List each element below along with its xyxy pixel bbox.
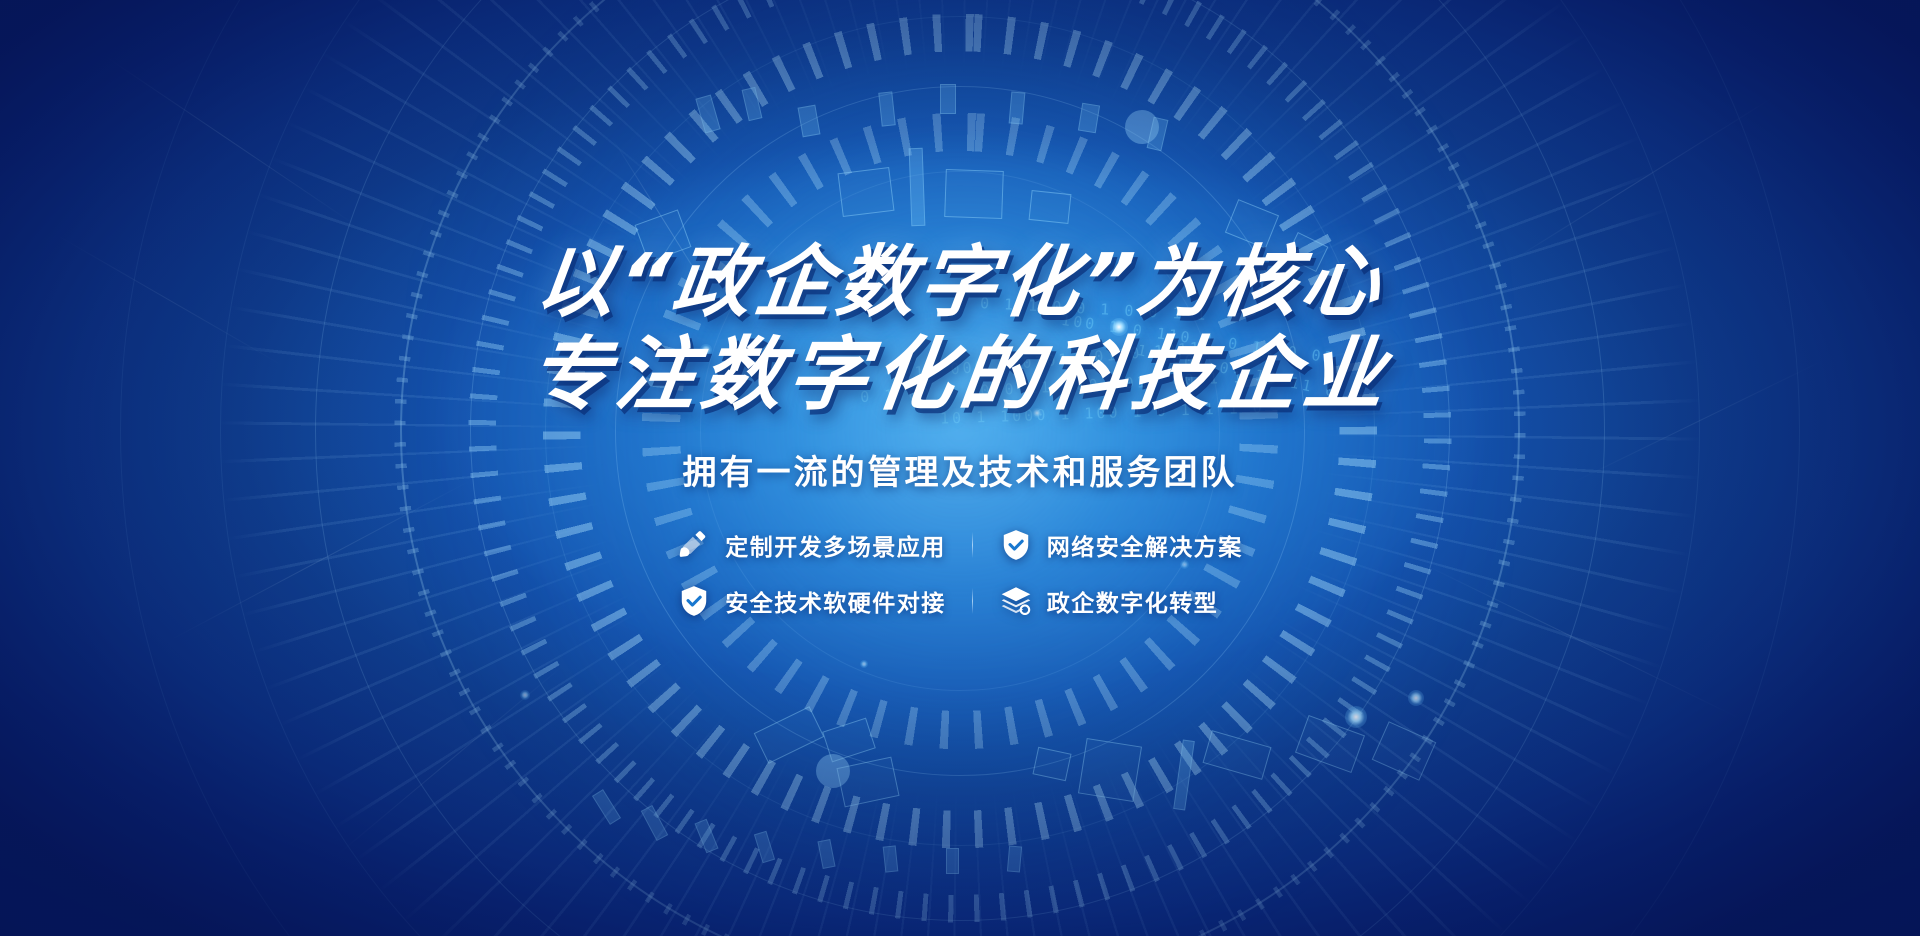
feature-separator [972, 588, 973, 614]
feature-item-custom-development[interactable]: 定制开发多场景应用 [677, 528, 946, 562]
feature-label: 网络安全解决方案 [1047, 528, 1243, 562]
feature-label: 政企数字化转型 [1047, 584, 1219, 618]
banner-content: 以“政企数字化”为核心 专注数字化的科技企业 拥有一流的管理及技术和服务团队 定… [0, 0, 1920, 936]
headline-block: 以“政企数字化”为核心 专注数字化的科技企业 [530, 244, 1390, 415]
feature-list: 定制开发多场景应用 网络安全解决方案 [677, 528, 1243, 618]
subtitle: 拥有一流的管理及技术和服务团队 [683, 445, 1238, 494]
feature-separator [972, 532, 973, 558]
shield-check-icon [999, 528, 1033, 562]
feature-item-digital-transformation[interactable]: 政企数字化转型 [999, 584, 1243, 618]
feature-item-network-security[interactable]: 网络安全解决方案 [999, 528, 1243, 562]
feature-item-security-integration[interactable]: 安全技术软硬件对接 [677, 584, 946, 618]
headline-line-1: 以“政企数字化”为核心 [525, 244, 1395, 324]
layers-icon [999, 584, 1033, 618]
feature-label: 安全技术软硬件对接 [725, 584, 946, 618]
hero-banner: 1011 000 100101 00110 1011 0 1 00 1 10 0… [0, 0, 1920, 936]
feature-label: 定制开发多场景应用 [725, 528, 946, 562]
pen-tool-icon [677, 528, 711, 562]
shield-check-icon [677, 584, 711, 618]
headline-line-2: 专注数字化的科技企业 [525, 334, 1395, 416]
